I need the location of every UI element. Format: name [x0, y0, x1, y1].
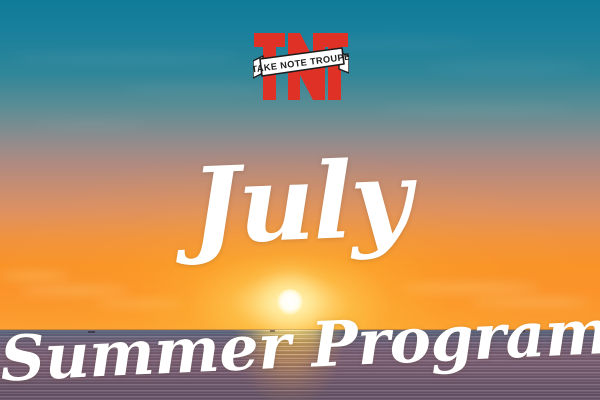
cloud-wisp — [10, 52, 240, 64]
cloud-wisp — [30, 120, 150, 128]
cloud-wisp — [120, 86, 270, 94]
low-cloud — [0, 272, 70, 280]
poster-canvas: TAKE NOTE TROUPE July Summer Program — [0, 0, 600, 400]
tnt-logo-graphic: TAKE NOTE TROUPE — [253, 31, 349, 103]
low-cloud — [400, 283, 540, 293]
month-heading: July — [0, 132, 600, 273]
tnt-logo[interactable]: TAKE NOTE TROUPE — [253, 31, 349, 103]
low-cloud — [95, 300, 185, 307]
low-cloud — [20, 286, 130, 295]
cloud-wisp — [370, 104, 580, 114]
cloud-wisp — [420, 62, 590, 73]
